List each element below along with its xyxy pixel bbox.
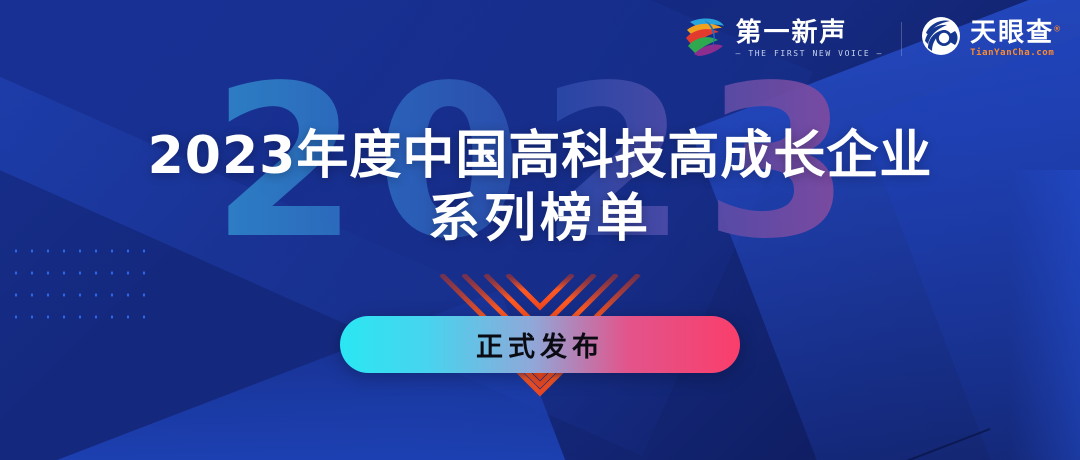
tianyancha-logo-icon: [920, 15, 962, 62]
headline: 2023年度中国高科技高成长企业 系列榜单: [0, 128, 1080, 248]
release-status-pill[interactable]: 正式发布: [340, 316, 740, 373]
tianyancha-trademark: ®: [1054, 25, 1062, 34]
tianyancha-tagline: TianYanCha.com: [970, 48, 1062, 58]
tianyancha-name: 天眼查®: [970, 19, 1062, 46]
headline-line-2: 系列榜单: [0, 190, 1080, 248]
tianyancha-logo-text: 天眼查® TianYanCha.com: [970, 19, 1062, 57]
logo-divider: [901, 22, 902, 56]
diyi-xinsheng-name: 第一新声: [736, 19, 884, 46]
logo-bar: 第一新声 — THE FIRST NEW VOICE — 天眼查®: [682, 14, 1063, 63]
diyi-xinsheng-tagline: — THE FIRST NEW VOICE —: [736, 49, 884, 58]
logo-diyi-xinsheng: 第一新声 — THE FIRST NEW VOICE —: [682, 14, 884, 63]
headline-line-1: 2023年度中国高科技高成长企业: [0, 128, 1080, 184]
poster-canvas: 2023: [0, 0, 1080, 460]
diyi-xinsheng-logo-icon: [682, 14, 728, 63]
diyi-xinsheng-logo-text: 第一新声 — THE FIRST NEW VOICE —: [736, 19, 884, 57]
logo-tianyancha: 天眼查® TianYanCha.com: [920, 15, 1062, 62]
tianyancha-name-cn: 天眼查: [970, 17, 1054, 47]
release-status-label: 正式发布: [476, 325, 604, 364]
cta-wrapper: 正式发布: [340, 316, 740, 373]
